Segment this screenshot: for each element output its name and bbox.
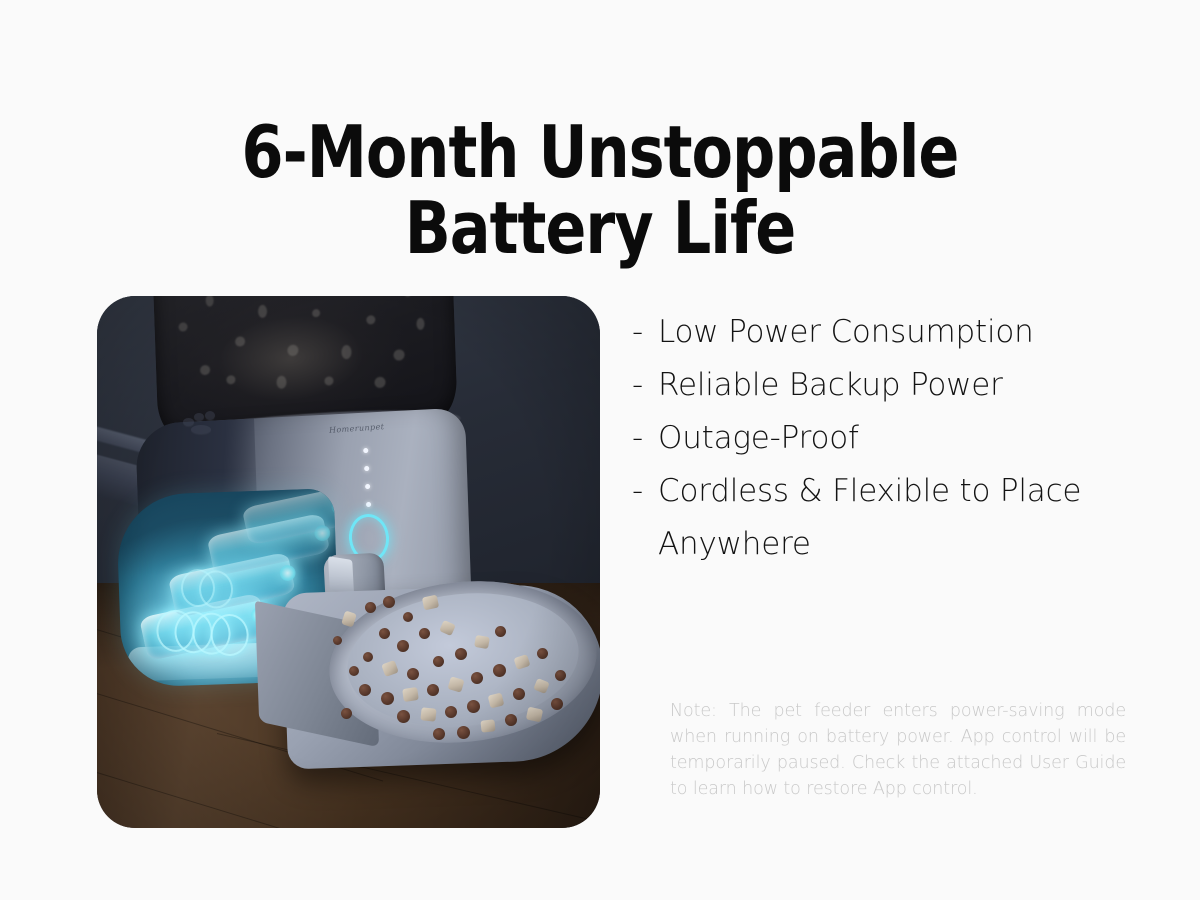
bullet-dash: - [632,412,658,465]
product-photo: Homerunpet [97,296,600,828]
page-title: 6-Month Unstoppable Battery Life [96,114,1104,266]
led-dot [364,466,369,471]
led-dot [365,484,370,489]
dispenser-outlet [328,556,354,594]
led-dot [366,502,371,507]
list-item: - Cordless & Flexible to Place Anywhere [632,465,1162,571]
list-item: - Outage-Proof [632,412,1162,465]
list-item: - Low Power Consumption [632,306,1162,359]
list-item: - Reliable Backup Power [632,359,1162,412]
feature-label: Cordless & Flexible to Place Anywhere [658,465,1162,571]
footnote-text: Note: The pet feeder enters power-saving… [670,698,1126,802]
feature-label: Outage-Proof [658,412,1162,465]
feature-label: Reliable Backup Power [658,359,1162,412]
bullet-dash: - [632,465,658,518]
feature-label: Low Power Consumption [658,306,1162,359]
bullet-dash: - [632,359,658,412]
poster-canvas: 6-Month Unstoppable Battery Life [0,0,1200,900]
led-dot [363,448,368,453]
bullet-dash: - [632,306,658,359]
paw-print-icon [183,408,221,434]
feature-list: - Low Power Consumption - Reliable Backu… [632,306,1162,571]
